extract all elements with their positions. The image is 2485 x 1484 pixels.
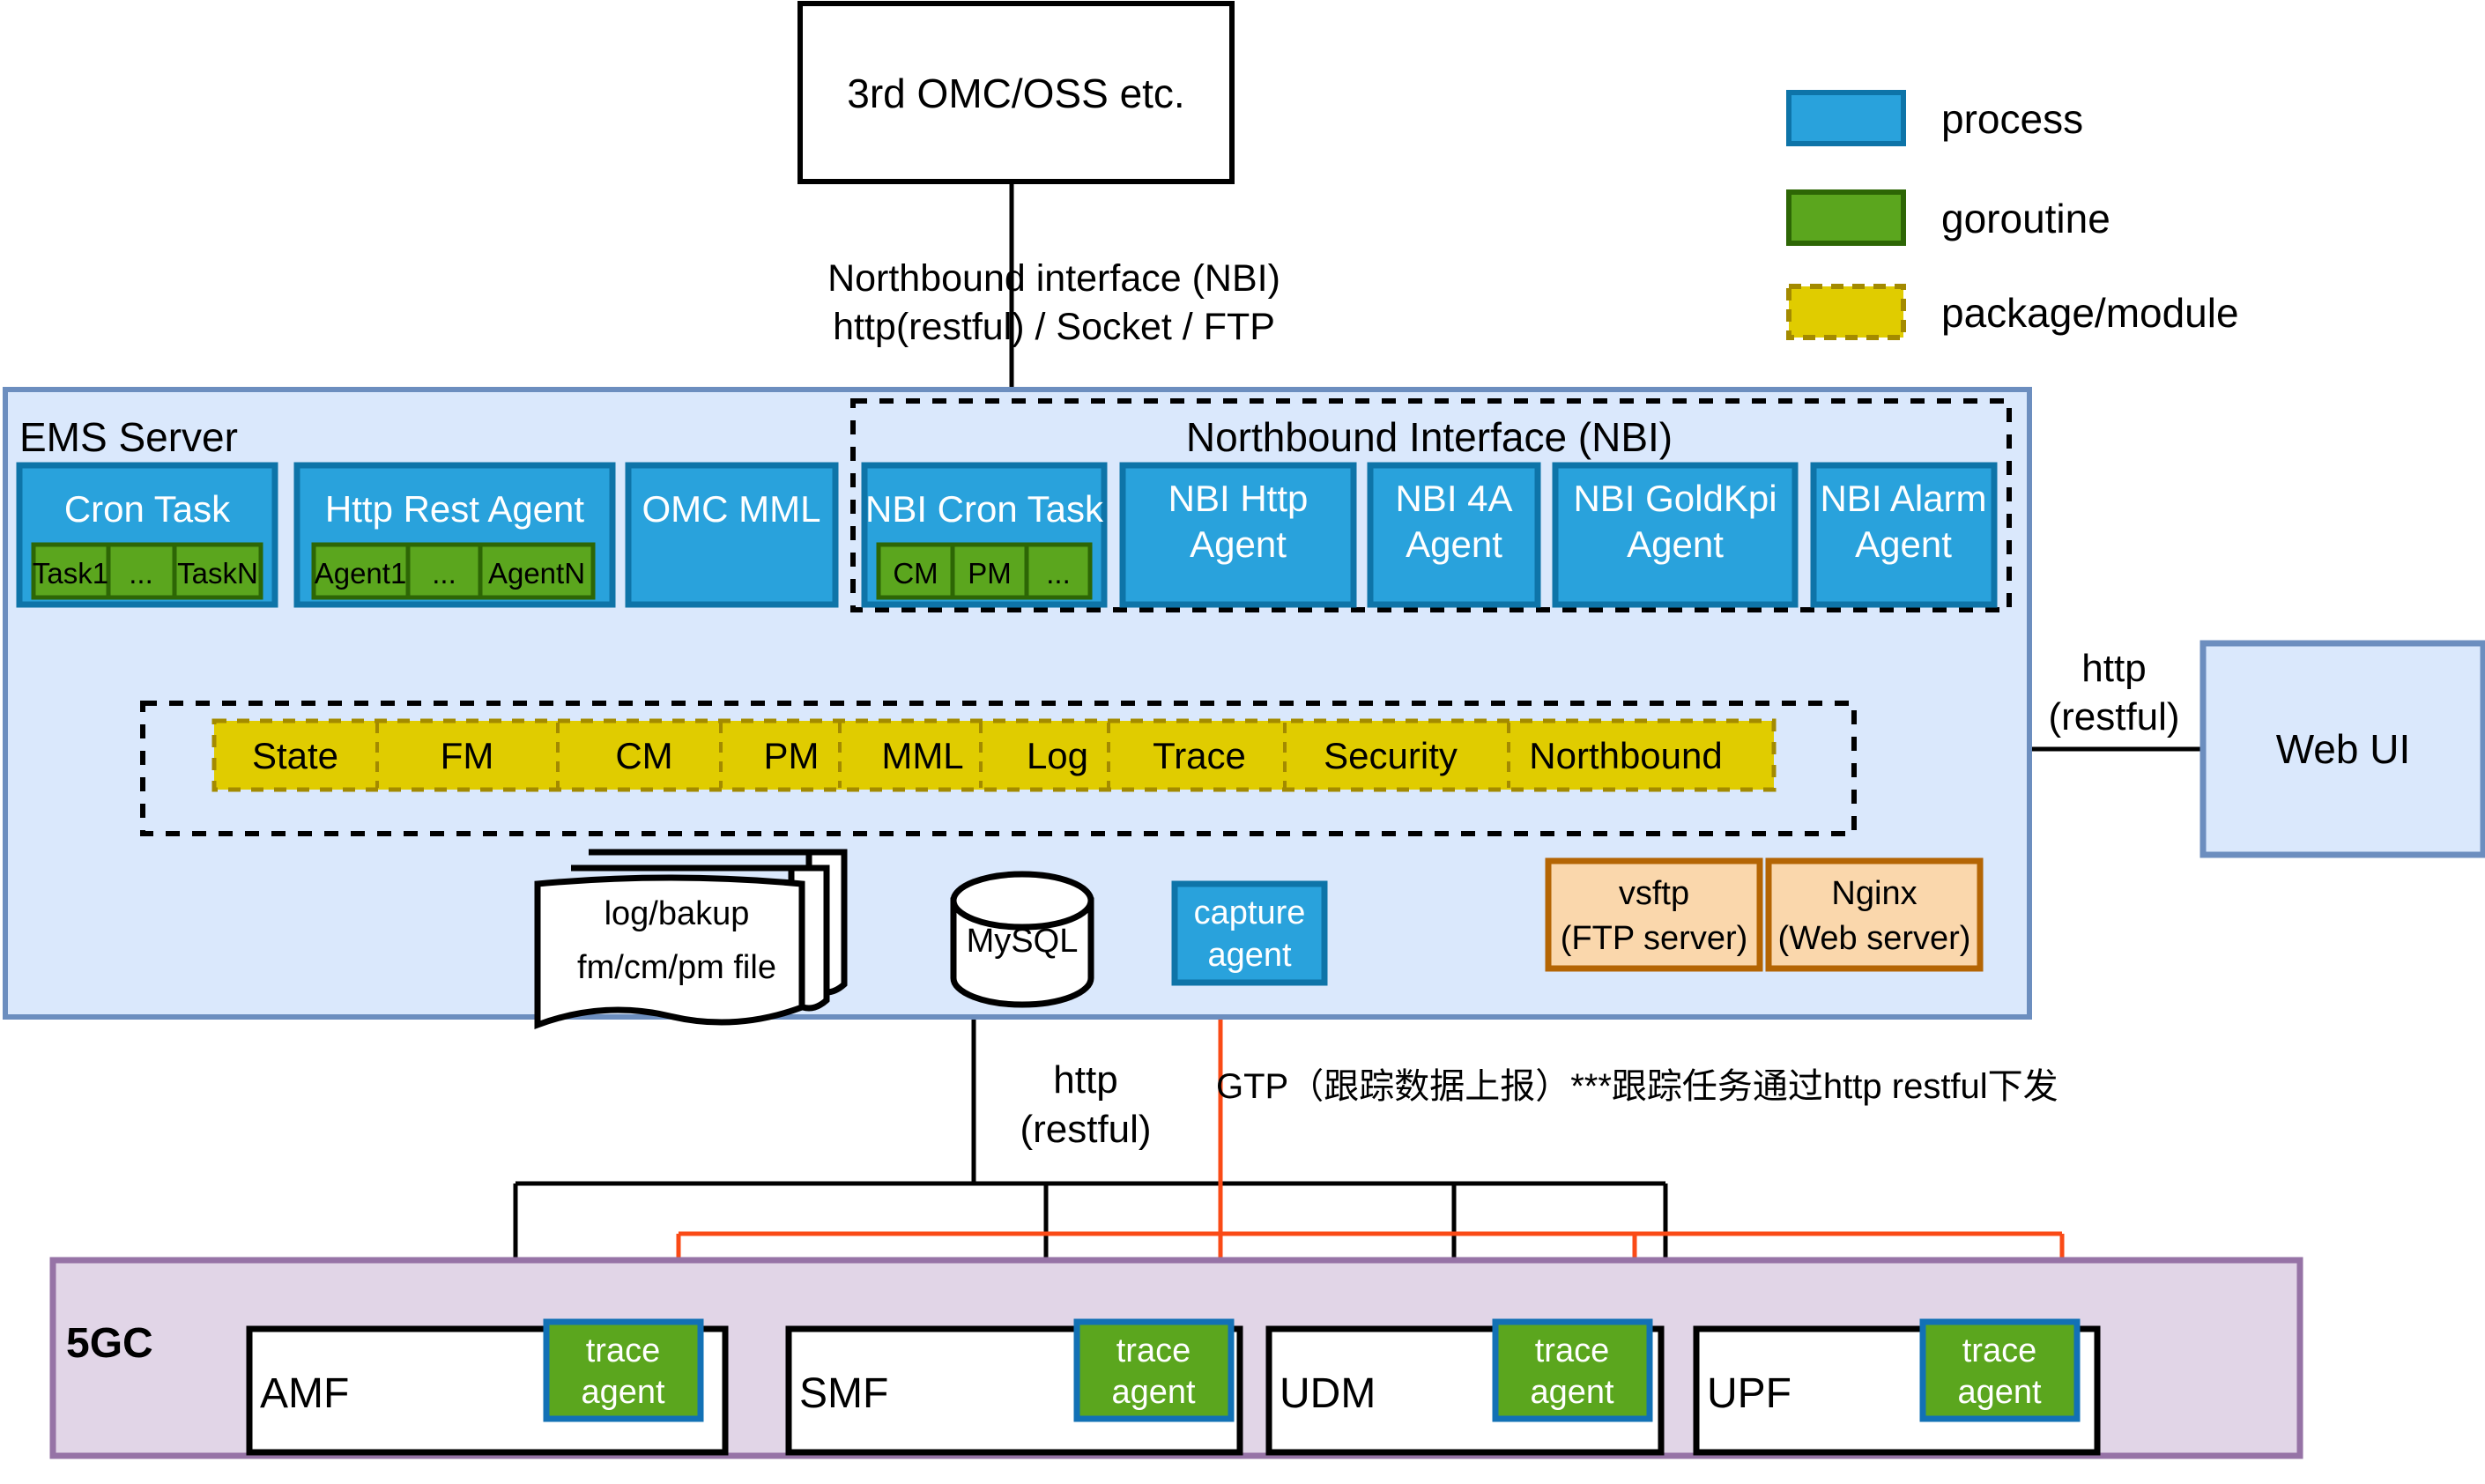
web-ui-link-label-line1: http — [2081, 647, 2146, 690]
module-label-mml[interactable]: MML — [881, 735, 963, 776]
process-label-omc-mml: OMC MML — [642, 488, 821, 530]
module-label-security[interactable]: Security — [1324, 735, 1458, 776]
module-label-cm[interactable]: CM — [615, 735, 672, 776]
nbi-link-label-line1: Northbound interface (NBI) — [827, 257, 1280, 300]
nf-label-udm: UDM — [1280, 1370, 1376, 1417]
legend-swatch-package — [1789, 286, 1903, 338]
ems-title: EMS Server — [19, 414, 238, 460]
module-label-log[interactable]: Log — [1027, 735, 1088, 776]
trace-agent-label-upf-line1: trace — [1962, 1332, 2036, 1369]
process-label-nbi-http-agent-l1: NBI Http — [1168, 478, 1309, 519]
goroutine-label: ... — [1046, 557, 1071, 590]
web-ui-link-label-line2: (restful) — [2048, 695, 2179, 738]
process-label-nbi-goldkpi-agent-l2: Agent — [1627, 523, 1724, 565]
nf-label-amf: AMF — [260, 1370, 349, 1417]
process-label-nbi-4a-agent-l2: Agent — [1406, 523, 1502, 565]
http-link-label-line1: http — [1053, 1058, 1117, 1102]
module-label-trace[interactable]: Trace — [1153, 735, 1246, 776]
trace-agent-label-upf-line2: agent — [1957, 1374, 2042, 1411]
process-box-omc-mml[interactable] — [628, 465, 835, 605]
goroutine-label: ... — [432, 557, 456, 590]
process-label-nbi-alarm-agent-l2: Agent — [1855, 523, 1952, 565]
goroutine-label: Task1 — [33, 557, 108, 590]
http-link-label-line2: (restful) — [1020, 1108, 1151, 1151]
module-label-state[interactable]: State — [252, 735, 338, 776]
goroutine-label: Agent1 — [315, 557, 407, 590]
nf-label-smf: SMF — [799, 1370, 888, 1417]
trace-agent-label-smf-line1: trace — [1116, 1332, 1191, 1369]
file-stack-label-line1: log/bakup — [605, 895, 750, 932]
server-label-vsftp-line1: vsftp — [1619, 875, 1689, 912]
process-label-nbi-alarm-agent-l1: NBI Alarm — [1820, 478, 1986, 519]
nf-label-upf: UPF — [1707, 1370, 1791, 1417]
trace-agent-label-smf-line2: agent — [1111, 1374, 1196, 1411]
legend-swatch-goroutine — [1789, 192, 1903, 243]
process-label-cron-task: Cron Task — [64, 488, 231, 530]
process-label-nbi-http-agent-l2: Agent — [1190, 523, 1287, 565]
core-5gc-title: 5GC — [66, 1320, 153, 1367]
trace-agent-label-udm-line2: agent — [1530, 1374, 1614, 1411]
capture-agent-label-line1: capture — [1194, 894, 1306, 931]
gtp-note-label: GTP（跟踪数据上报）***跟踪任务通过http restful下发 — [1216, 1067, 2058, 1106]
capture-agent-label-line2: agent — [1207, 937, 1292, 974]
module-label-pm[interactable]: PM — [764, 735, 820, 776]
goroutine-label: ... — [129, 557, 153, 590]
process-label-nbi-4a-agent-l1: NBI 4A — [1395, 478, 1512, 519]
nbi-group-title: Northbound Interface (NBI) — [1186, 414, 1673, 460]
module-label-fm[interactable]: FM — [441, 735, 494, 776]
process-label-nbi-goldkpi-agent-l1: NBI GoldKpi — [1573, 478, 1777, 519]
web-ui-label: Web UI — [2276, 726, 2411, 772]
goroutine-label: PM — [968, 557, 1012, 590]
trace-agent-label-amf-line1: trace — [586, 1332, 660, 1369]
file-stack-label-line2: fm/cm/pm file — [577, 949, 776, 986]
module-label-northbound[interactable]: Northbound — [1529, 735, 1723, 776]
trace-agent-label-udm-line1: trace — [1535, 1332, 1609, 1369]
omc-oss-label: 3rd OMC/OSS etc. — [847, 70, 1184, 116]
nbi-link-label-line2: http(restful) / Socket / FTP — [833, 306, 1275, 348]
diagram-canvas: 3rd OMC/OSS etc. Northbound interface (N… — [0, 0, 2485, 1484]
server-label-nginx-line1: Nginx — [1831, 875, 1917, 912]
server-label-vsftp-line2: (FTP server) — [1561, 920, 1748, 957]
process-label-nbi-cron-task: NBI Cron Task — [865, 488, 1104, 530]
goroutine-label: AgentN — [488, 557, 585, 590]
database-label: MySQL — [967, 923, 1079, 960]
goroutine-label: CM — [893, 557, 938, 590]
server-label-nginx-line2: (Web server) — [1778, 920, 1971, 957]
goroutine-label: TaskN — [177, 557, 258, 590]
legend-label-goroutine: goroutine — [1941, 196, 2110, 241]
legend-label-process: process — [1941, 96, 2083, 142]
file-stack-icon — [538, 852, 844, 1025]
trace-agent-label-amf-line2: agent — [581, 1374, 665, 1411]
process-label-http-rest-agent: Http Rest Agent — [325, 488, 584, 530]
legend-label-package: package/module — [1941, 290, 2239, 336]
legend-swatch-process — [1789, 93, 1903, 144]
